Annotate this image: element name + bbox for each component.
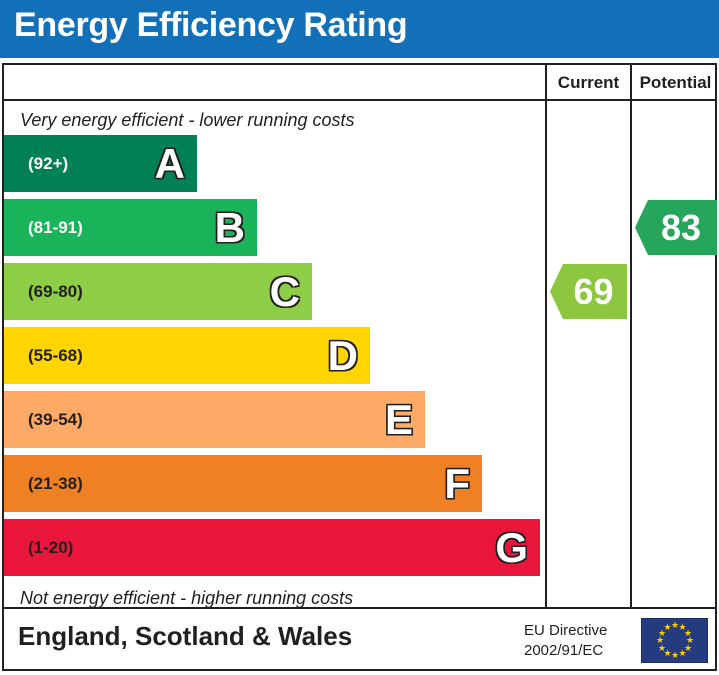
rating-arrow-current: 69 [550, 264, 627, 319]
band-row-g: (1-20)G [4, 519, 540, 576]
footer-directive-line2: 2002/91/EC [524, 641, 607, 661]
column-divider-current [545, 65, 547, 607]
band-range-d: (55-68) [28, 346, 83, 366]
page-title: Energy Efficiency Rating [14, 6, 407, 45]
footer-directive-line1: EU Directive [524, 621, 607, 641]
band-range-g: (1-20) [28, 538, 73, 558]
footer-region-label: England, Scotland & Wales [18, 621, 352, 652]
band-range-c: (69-80) [28, 282, 83, 302]
band-letter-f: F [444, 463, 470, 505]
column-header-current: Current [547, 73, 630, 93]
rating-arrow-potential: 83 [635, 200, 717, 255]
band-letter-b: B [215, 207, 245, 249]
column-divider-potential [630, 65, 632, 607]
column-header-row: Current Potential [4, 65, 715, 101]
band-row-d: (55-68)D [4, 327, 370, 384]
band-letter-c: C [270, 271, 300, 313]
band-row-e: (39-54)E [4, 391, 425, 448]
band-range-f: (21-38) [28, 474, 83, 494]
footer-directive: EU Directive 2002/91/EC [524, 621, 607, 662]
band-row-f: (21-38)F [4, 455, 482, 512]
caption-efficient: Very energy efficient - lower running co… [20, 110, 355, 131]
band-row-c: (69-80)C [4, 263, 312, 320]
band-range-a: (92+) [28, 154, 68, 174]
caption-inefficient: Not energy efficient - higher running co… [20, 588, 353, 609]
band-row-a: (92+)A [4, 135, 197, 192]
band-list: (92+)A(81-91)B(69-80)C(55-68)D(39-54)E(2… [4, 135, 543, 583]
rating-value-current: 69 [563, 274, 613, 310]
band-range-e: (39-54) [28, 410, 83, 430]
energy-efficiency-rating-chart: Energy Efficiency Rating Current Potenti… [0, 0, 719, 675]
band-letter-d: D [328, 335, 358, 377]
chart-footer: England, Scotland & Wales EU Directive 2… [2, 609, 717, 671]
column-header-potential: Potential [632, 73, 719, 93]
eu-star-icon: ★ [663, 623, 672, 632]
chart-title-bar: Energy Efficiency Rating [0, 0, 719, 58]
eu-flag-icon: ★★★★★★★★★★★★ [641, 618, 708, 663]
ratings-grid: Current Potential Very energy efficient … [2, 63, 717, 609]
band-letter-a: A [155, 143, 185, 185]
band-letter-e: E [385, 399, 413, 441]
band-letter-g: G [495, 527, 528, 569]
band-range-b: (81-91) [28, 218, 83, 238]
band-row-b: (81-91)B [4, 199, 257, 256]
rating-value-potential: 83 [651, 210, 701, 246]
